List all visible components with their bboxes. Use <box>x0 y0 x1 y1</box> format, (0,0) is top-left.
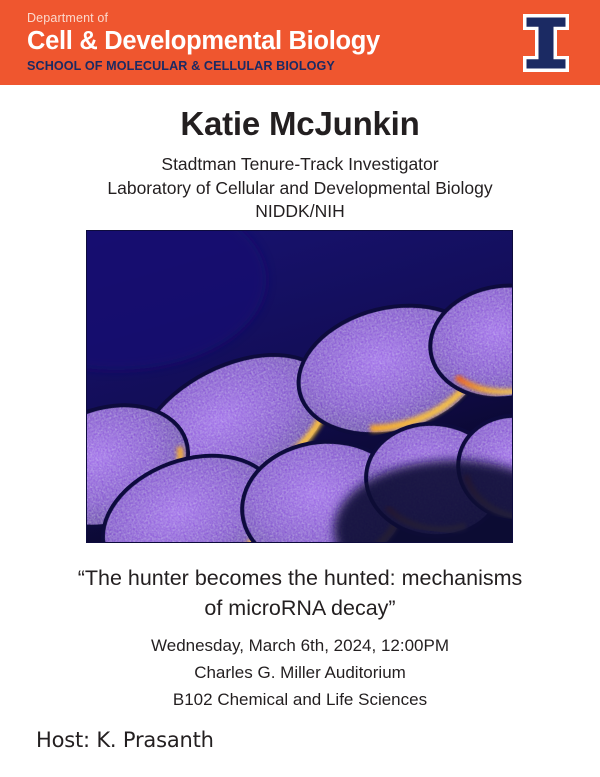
talk-venue: Charles G. Miller Auditorium <box>42 659 558 686</box>
talk-title: “The hunter becomes the hunted: mechanis… <box>42 563 558 623</box>
talk-title-line: “The hunter becomes the hunted: mechanis… <box>42 563 558 593</box>
affiliation-line: NIDDK/NIH <box>0 200 600 224</box>
talk-title-line: of microRNA decay” <box>42 593 558 623</box>
fluorescence-micrograph <box>86 230 513 543</box>
speaker-name: Katie McJunkin <box>0 104 600 144</box>
talk-details: Wednesday, March 6th, 2024, 12:00PM Char… <box>42 632 558 713</box>
school-name: SCHOOL OF MOLECULAR & CELLULAR BIOLOGY <box>27 59 380 74</box>
affiliation-line: Laboratory of Cellular and Developmental… <box>0 177 600 201</box>
illinois-block-i-logo <box>515 10 577 76</box>
host-label: Host: K. Prasanth <box>36 726 214 754</box>
talk-room: B102 Chemical and Life Sciences <box>42 686 558 713</box>
department-name: Cell & Developmental Biology <box>27 27 380 56</box>
header-banner: Department of Cell & Developmental Biolo… <box>0 0 600 85</box>
talk-datetime: Wednesday, March 6th, 2024, 12:00PM <box>42 632 558 659</box>
department-eyebrow: Department of <box>27 11 380 26</box>
affiliation-line: Stadtman Tenure-Track Investigator <box>0 153 600 177</box>
speaker-affiliations: Stadtman Tenure-Track Investigator Labor… <box>0 153 600 224</box>
banner-text-group: Department of Cell & Developmental Biolo… <box>27 11 380 74</box>
